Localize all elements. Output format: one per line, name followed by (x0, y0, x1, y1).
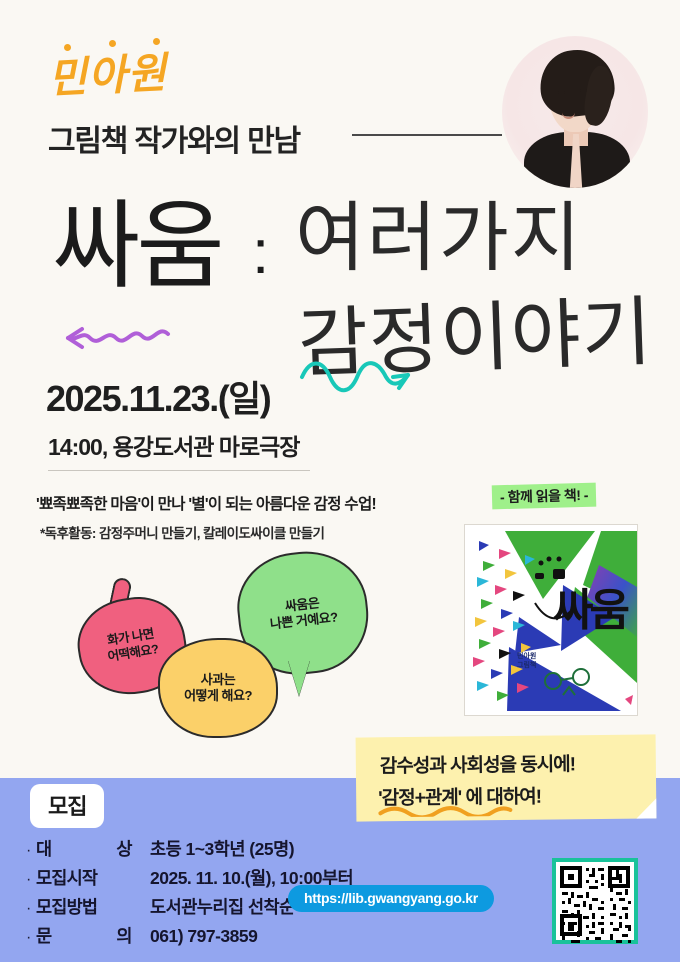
recruit-label-contact-b: 의 (116, 923, 132, 948)
recruit-label-target-a: 대 (36, 836, 52, 861)
book-cover: 싸움 민아원 그림책 (464, 524, 638, 716)
author-name: 민아원 (46, 39, 168, 106)
series-title: 그림책 작가와의 만남 (48, 116, 300, 160)
book-imprint-line1: 민아원 (517, 653, 536, 662)
description-headline: '뾰족뾰족한 마음'이 만나 '별'이 되는 아름다운 감정 수업! (36, 492, 376, 514)
event-time-venue: 14:00, 용강도서관 마로극장 (48, 428, 299, 462)
qr-code-pattern (560, 866, 630, 936)
poster-title-subline-1: 여러가지 (295, 200, 583, 276)
book-cover-title: 싸움 (553, 591, 626, 631)
recruit-value-target: 초등 1~3학년 (25명) (150, 836, 294, 861)
book-label: - 함께 읽을 책! - (492, 483, 597, 510)
event-poster: 민아원 그림책 작가와의 만남 싸움 : 여러가지 감정이야기 2025.11.… (0, 0, 680, 962)
bullet-icon: · (26, 843, 36, 859)
recruit-label-contact: 문 의 (36, 923, 132, 948)
recruit-badge: 모집 (30, 784, 104, 828)
recruit-label-start: 모집시작 (36, 865, 132, 890)
recruit-label-target: 대 상 (36, 836, 132, 861)
callout-folded-corner (636, 798, 656, 818)
portrait-eye-left (558, 91, 565, 94)
squiggly-left-arrow-icon (54, 320, 174, 356)
recruit-value-method: 도서관누리집 선착순 (150, 894, 295, 919)
poster-title-colon: : (252, 222, 269, 284)
bullet-icon: · (26, 901, 36, 917)
recruit-label-method: 모집방법 (36, 894, 132, 919)
squiggly-right-arrow-icon (296, 355, 436, 403)
bullet-icon: · (26, 930, 36, 946)
author-portrait (502, 36, 648, 188)
recruit-row-target: · 대 상 초등 1~3학년 (25명) (26, 836, 446, 865)
recruit-value-contact: 061) 797-3859 (150, 926, 257, 947)
recruit-label-target-b: 상 (116, 836, 132, 861)
speech-bubble-green-tail (288, 660, 310, 696)
speech-bubble-yellow-line1: 사과는 (184, 672, 252, 688)
recruit-label-contact-a: 문 (36, 923, 52, 948)
bullet-icon: · (26, 872, 36, 888)
recruit-row-contact: · 문 의 061) 797-3859 (26, 923, 446, 952)
callout-box: 감수성과 사회성을 동시에! '감정+관계' 에 대하여! (356, 734, 657, 821)
qr-code[interactable] (552, 858, 638, 944)
speech-bubble-yellow: 사과는 어떻게 해요? (158, 638, 278, 738)
book-imprint-line2: 그림책 (517, 662, 536, 671)
description-note: *독후활동: 감정주머니 만들기, 칼레이도싸이클 만들기 (40, 522, 324, 542)
section-divider (48, 470, 310, 471)
portrait-eye-right (580, 89, 587, 92)
book-cover-imprint: 민아원 그림책 (517, 653, 536, 671)
series-title-rule (352, 134, 502, 136)
library-website-link[interactable]: https://lib.gwangyang.go.kr (288, 885, 494, 912)
speech-bubble-yellow-line2: 어떻게 해요? (184, 688, 252, 704)
callout-underline-squiggle-icon (378, 804, 528, 818)
event-date: 2025.11.23.(일) (46, 370, 270, 422)
poster-title-main: 싸움 (52, 198, 221, 294)
callout-line-1: 감수성과 사회성을 동시에! (380, 749, 575, 778)
